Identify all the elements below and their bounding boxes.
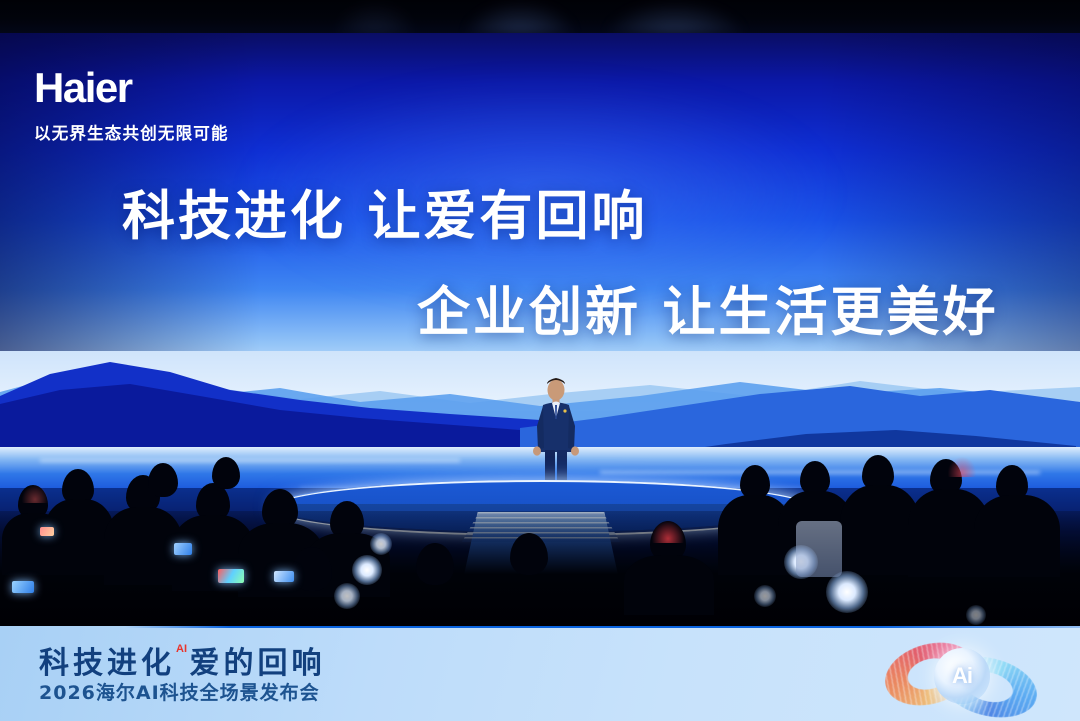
brand-tagline: 以无界生态共创无限可能 — [34, 120, 229, 144]
headline-primary: 科技进化 让爱有回响 — [122, 174, 647, 250]
stage-spotlight — [334, 583, 360, 609]
headline-secondary: 企业创新 让生活更美好 — [417, 270, 998, 346]
haier-logo-wordmark: Haier — [34, 67, 229, 109]
audience-body — [104, 507, 182, 585]
foreground-seat — [796, 521, 842, 577]
audience-phone-screen — [40, 527, 54, 536]
stage-spotlight — [370, 533, 392, 555]
audience-head — [148, 463, 178, 497]
audience-head — [292, 547, 332, 591]
emblem-ai-label: Ai — [934, 648, 990, 704]
stage-spotlight — [352, 555, 382, 585]
audience-red-light-accent — [948, 457, 976, 477]
audience-body — [974, 495, 1060, 577]
light-beam-icon — [460, 0, 580, 34]
audience-head — [416, 543, 454, 585]
mountain-range-near-left-dark — [0, 360, 520, 460]
audience-phone-screen — [274, 571, 294, 582]
audience-body — [624, 555, 714, 615]
audience-head — [510, 533, 548, 575]
audience-phone-screen — [218, 569, 244, 583]
light-beam-icon — [330, 0, 420, 34]
audience-phone-screen — [174, 543, 192, 555]
stage-spotlight — [826, 571, 868, 613]
audience-phone-screen — [12, 581, 34, 593]
stage-photograph: Haier 以无界生态共创无限可能 科技进化 让爱有回响 企业创新 让生活更美好 — [0, 0, 1080, 626]
banner-ai-mark: AI — [176, 643, 187, 655]
ai-emblem-logo: Ai — [878, 628, 1043, 720]
event-stage-photo: Haier 以无界生态共创无限可能 科技进化 让爱有回响 企业创新 让生活更美好 — [0, 0, 1080, 721]
banner-subtitle: 2026海尔AI科技全场景发布会 — [39, 678, 320, 705]
ceiling-truss — [0, 0, 1080, 34]
stage-spotlight — [754, 585, 776, 607]
audience-head — [740, 465, 770, 499]
audience-red-light-accent — [652, 521, 684, 543]
audience-red-light-accent — [22, 485, 48, 503]
light-beam-icon — [600, 0, 750, 34]
audience-head — [212, 457, 240, 489]
stage-spotlight — [966, 605, 986, 625]
audience-area — [0, 455, 1080, 626]
audience-head — [800, 461, 830, 495]
haier-brand-lockup: Haier 以无界生态共创无限可能 — [34, 67, 229, 144]
